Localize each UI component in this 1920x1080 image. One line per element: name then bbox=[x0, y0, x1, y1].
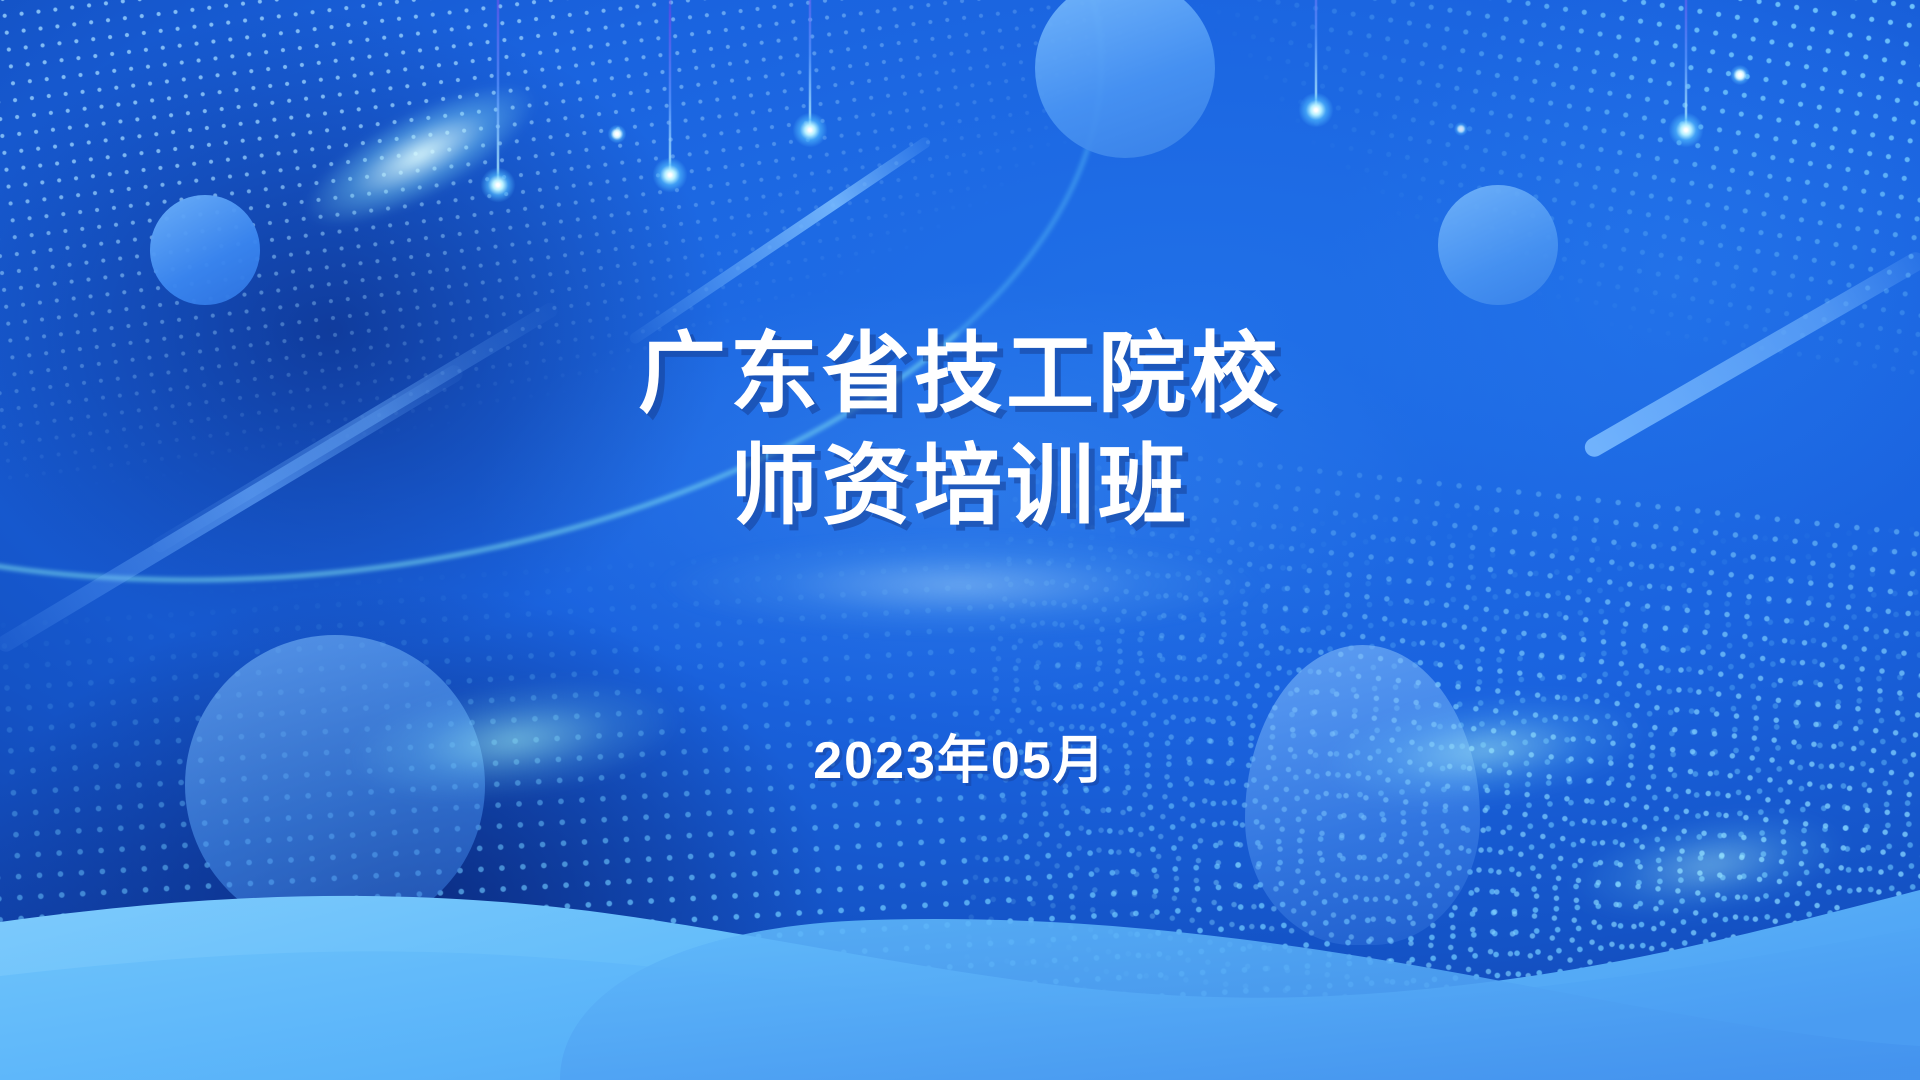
date-label: 2023年05月 bbox=[0, 718, 1920, 793]
streak-tail bbox=[1685, 0, 1688, 130]
sparkle-icon-3 bbox=[1452, 120, 1470, 138]
title-slide: 广东省技工院校 师资培训班 2023年05月 bbox=[0, 0, 1920, 1080]
streak-tail bbox=[809, 0, 812, 130]
sphere-small-left bbox=[150, 195, 260, 305]
bottom-wave-mid bbox=[0, 928, 1920, 1080]
sparkle-icon-1 bbox=[605, 122, 629, 146]
sphere-soft-bottom-right bbox=[1245, 645, 1480, 945]
streak-glow-head-icon bbox=[1663, 107, 1709, 153]
streak-glow-head-icon bbox=[647, 152, 693, 198]
sparkle-icon-2 bbox=[1727, 62, 1753, 88]
streak-glow-head-icon bbox=[1293, 87, 1339, 133]
sphere-large-top-center bbox=[1035, 0, 1215, 158]
streak-tail bbox=[669, 0, 672, 175]
streak-glow-head-icon bbox=[475, 162, 521, 208]
page-title: 广东省技工院校 师资培训班 bbox=[0, 318, 1920, 542]
glow-arc-highlight bbox=[248, 29, 591, 281]
bottom-wave-back bbox=[0, 890, 1920, 1080]
title-line-1: 广东省技工院校 bbox=[0, 318, 1920, 430]
bottom-wave-front bbox=[560, 919, 1920, 1080]
streak-tail bbox=[1315, 0, 1318, 110]
streak-glow-head-icon bbox=[787, 107, 833, 153]
light-bloom-corner bbox=[1521, 770, 1898, 961]
streak-tail bbox=[497, 0, 500, 185]
title-line-2: 师资培训班 bbox=[0, 430, 1920, 542]
sphere-small-top-right bbox=[1438, 185, 1558, 305]
diagonal-streak-center bbox=[628, 135, 933, 345]
